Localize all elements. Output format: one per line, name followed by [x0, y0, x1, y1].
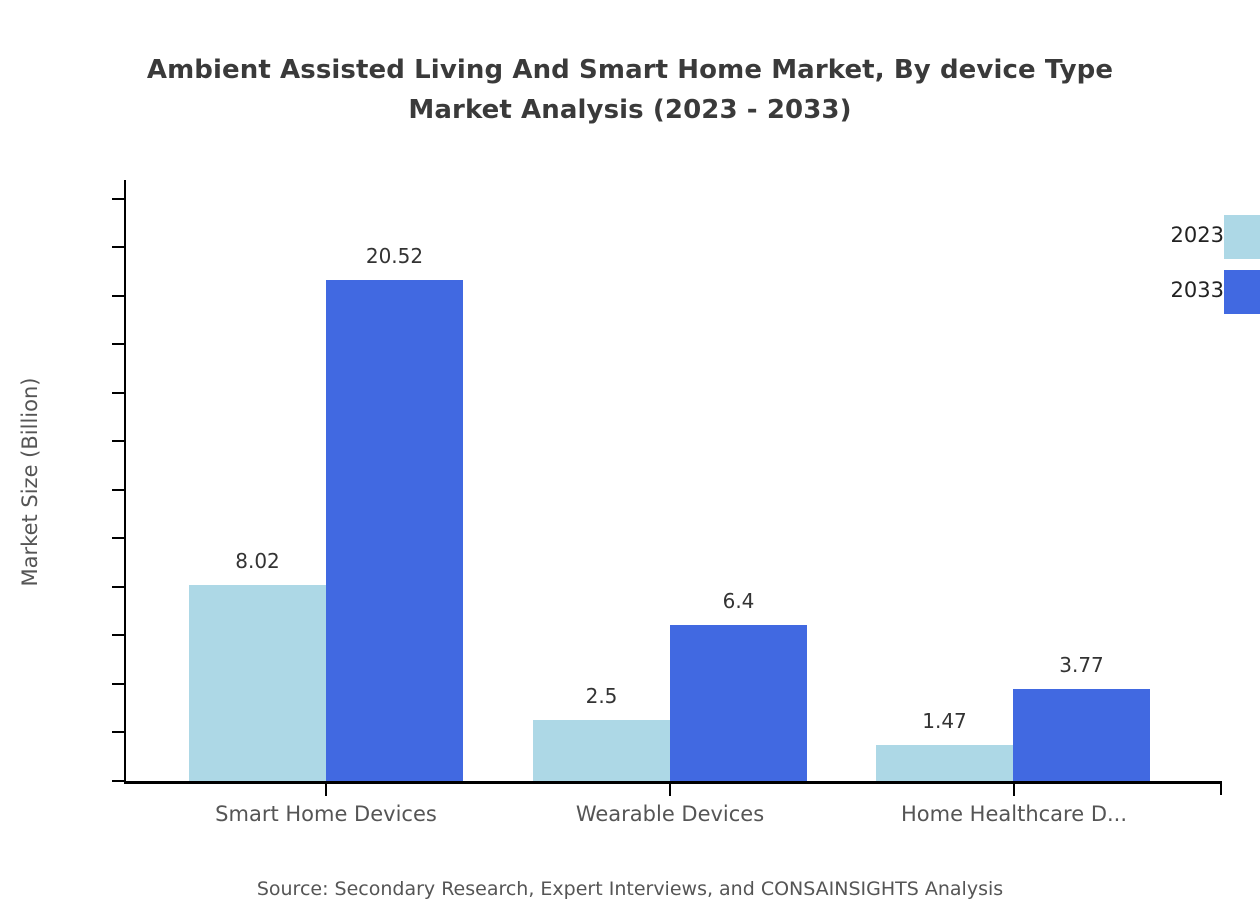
x-tick-label-smart-home-devices: Smart Home Devices: [176, 802, 476, 826]
bar-value-2023-wearable-devices: 2.5: [533, 684, 670, 708]
y-tick-4: [112, 683, 124, 685]
plot-area: 8.02 20.52 2.5 6.4 1.47 3.77 Smart Home …: [124, 180, 1222, 781]
y-tick-24: [112, 198, 124, 200]
x-tick-smart-home-devices: [325, 783, 327, 796]
x-tick-label-wearable-devices: Wearable Devices: [520, 802, 820, 826]
x-tick-label-home-healthcare-devices: Home Healthcare D...: [864, 802, 1164, 826]
y-tick-22: [112, 246, 124, 248]
legend-item-2033[interactable]: 2033: [1100, 270, 1260, 314]
y-tick-14: [112, 440, 124, 442]
legend-swatch-2033: [1224, 270, 1260, 314]
bar-value-2033-smart-home-devices: 20.52: [326, 244, 463, 268]
bar-value-2033-wearable-devices: 6.4: [670, 589, 807, 613]
y-tick-16: [112, 392, 124, 394]
x-tick-home-healthcare-devices: [1013, 783, 1015, 796]
legend-label-2033: 2033: [1171, 278, 1224, 302]
bar-2023-wearable-devices[interactable]: [533, 720, 670, 781]
bar-2023-home-healthcare-devices[interactable]: [876, 745, 1013, 781]
bar-value-2033-home-healthcare-devices: 3.77: [1013, 653, 1150, 677]
bar-value-2023-smart-home-devices: 8.02: [189, 549, 326, 573]
bar-2033-wearable-devices[interactable]: [670, 625, 807, 781]
y-tick-20: [112, 295, 124, 297]
y-axis-label: Market Size (Billion): [18, 202, 42, 762]
bar-2023-smart-home-devices[interactable]: [189, 585, 326, 781]
chart-title-line-2: Market Analysis (2023 - 2033): [0, 90, 1260, 130]
bar-2033-home-healthcare-devices[interactable]: [1013, 689, 1150, 781]
y-tick-0: [112, 780, 124, 782]
y-tick-12: [112, 489, 124, 491]
bar-chart: Ambient Assisted Living And Smart Home M…: [0, 0, 1260, 920]
legend-label-2023: 2023: [1171, 223, 1224, 247]
y-axis-label-wrap: Market Size (Billion): [6, 0, 46, 920]
y-tick-18: [112, 343, 124, 345]
x-axis-end-tick: [1220, 781, 1222, 795]
y-tick-10: [112, 537, 124, 539]
y-axis-spine: [124, 180, 126, 783]
chart-title-line-1: Ambient Assisted Living And Smart Home M…: [147, 55, 1113, 85]
bar-2033-smart-home-devices[interactable]: [326, 280, 463, 781]
x-tick-wearable-devices: [669, 783, 671, 796]
x-axis-spine: [124, 781, 1222, 784]
chart-source-footer: Source: Secondary Research, Expert Inter…: [0, 878, 1260, 900]
bar-value-2023-home-healthcare-devices: 1.47: [876, 709, 1013, 733]
legend-swatch-2023: [1224, 215, 1260, 259]
chart-title: Ambient Assisted Living And Smart Home M…: [0, 50, 1260, 130]
y-tick-8: [112, 586, 124, 588]
y-tick-6: [112, 634, 124, 636]
legend-item-2023[interactable]: 2023: [1100, 215, 1260, 259]
y-tick-2: [112, 731, 124, 733]
